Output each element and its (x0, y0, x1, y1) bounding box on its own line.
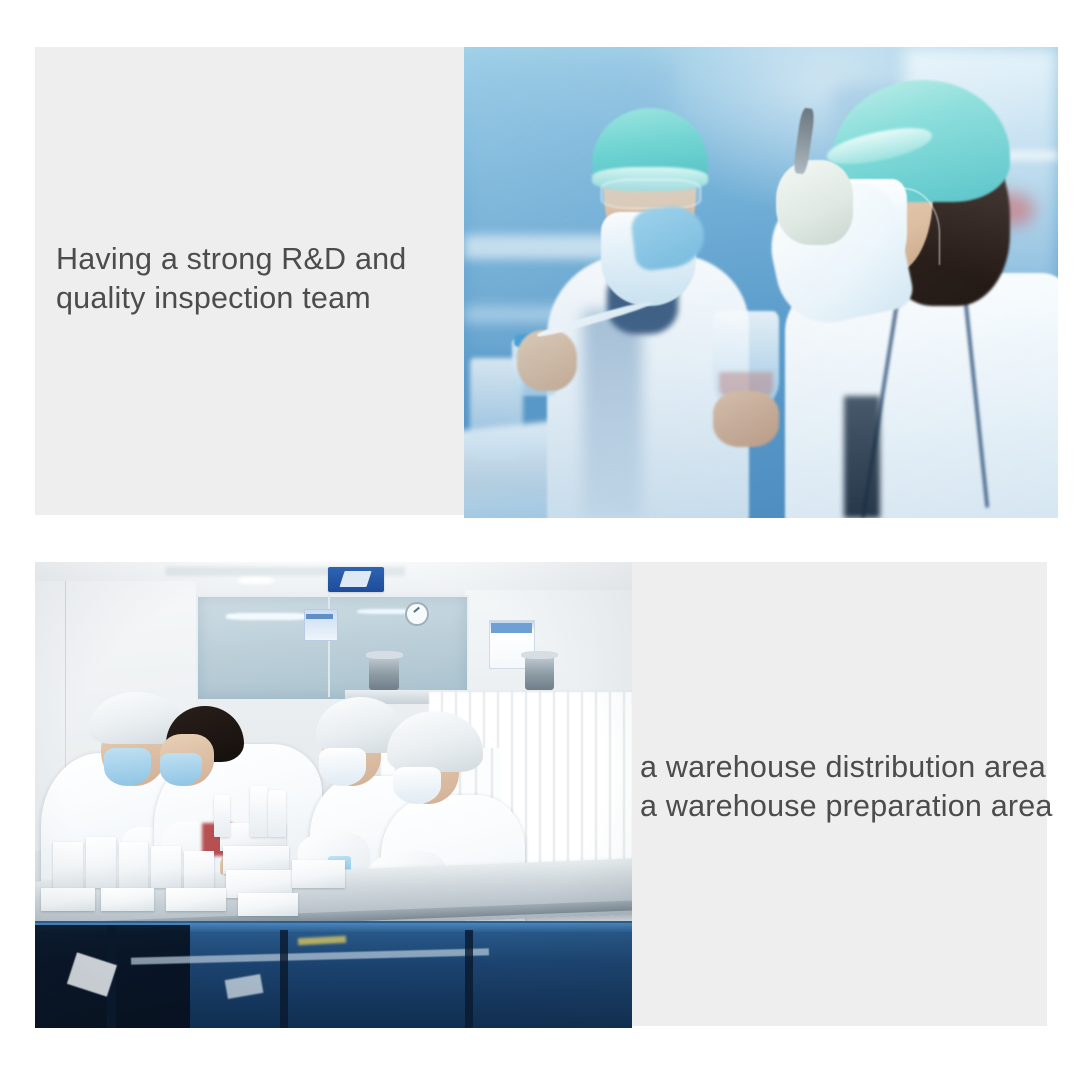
technician-right-gloved-hand (776, 160, 853, 245)
carton-on-table (41, 888, 95, 911)
wall-notice-header-band (306, 614, 333, 619)
technician-right-lower-hand (713, 391, 778, 448)
window-light-tube-left (226, 613, 310, 620)
lab-dark-post (844, 396, 880, 518)
steel-container-left-lid (366, 651, 403, 658)
section-rd-quality-team: Having a strong R&D and quality inspecti… (35, 47, 1058, 518)
caption-warehouse-areas: a warehouse distribution area a warehous… (640, 748, 1050, 826)
carton-on-table (292, 860, 346, 888)
table-leg-right (465, 930, 473, 1028)
carton-on-table (86, 837, 116, 888)
carton-on-table (53, 842, 83, 889)
product-bottle (268, 790, 286, 837)
table-leg-center (280, 930, 288, 1028)
technician-left-safety-glasses (601, 179, 701, 209)
banner-page: Having a strong R&D and quality inspecti… (0, 0, 1080, 1080)
caption-line-2: quality inspection team (56, 279, 456, 318)
steel-container-right (525, 655, 555, 690)
carton-on-table (238, 893, 298, 916)
technician-left-hand (517, 330, 576, 391)
wall-poster-header-band (491, 623, 532, 633)
product-bottle (250, 786, 268, 837)
carton-on-table (119, 842, 149, 889)
steel-container-right-lid (521, 651, 558, 658)
caption-line-2: a warehouse preparation area (640, 787, 1050, 826)
photo-lab-quality-inspection (464, 47, 1058, 518)
carton-on-table (151, 846, 181, 888)
carton-on-table (184, 851, 214, 888)
photo-warehouse-packing (35, 562, 632, 1028)
worker-1-face-mask (104, 748, 152, 785)
caption-line-1: a warehouse distribution area (640, 748, 1050, 787)
carton-on-table (101, 888, 155, 911)
product-bottle (214, 795, 230, 837)
wall-clock-icon (405, 602, 429, 627)
ceiling-light-left (238, 577, 274, 584)
carton-on-table (166, 888, 226, 911)
section-warehouse-areas: a warehouse distribution area a warehous… (35, 562, 1047, 1028)
steel-container-left (369, 655, 399, 690)
technician-left-coat-shadow (583, 311, 642, 518)
caption-line-1: Having a strong R&D and (56, 240, 456, 279)
caption-rd-quality-team: Having a strong R&D and quality inspecti… (56, 240, 456, 318)
worker-2-face-mask (160, 753, 202, 786)
worker-3-face-mask (319, 748, 367, 785)
